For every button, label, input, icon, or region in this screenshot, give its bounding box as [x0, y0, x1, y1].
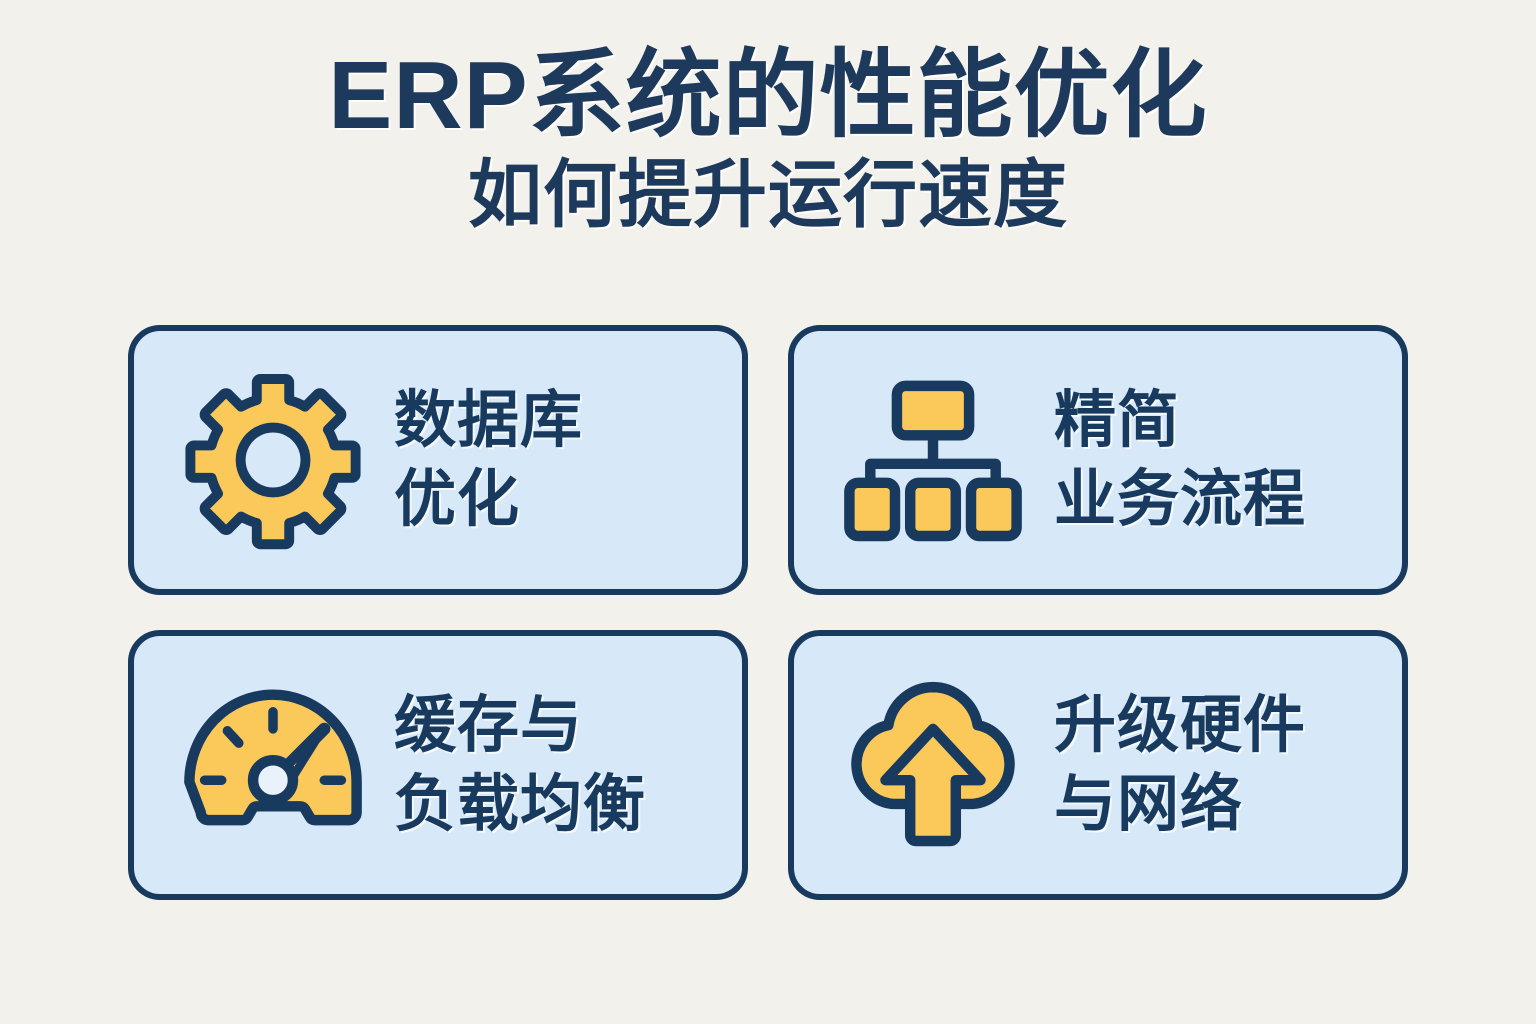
- card-label-line1: 精简: [1054, 386, 1180, 455]
- poster-header: ERP系统的性能优化 如何提升运行速度: [0, 44, 1536, 235]
- card-label-line2: 与网络: [1054, 765, 1376, 844]
- card-cache-load-balancing: 缓存与 负载均衡: [128, 630, 748, 900]
- page-title: ERP系统的性能优化: [0, 44, 1536, 148]
- card-streamline-process: 精简 业务流程: [788, 325, 1408, 595]
- infographic-poster: ERP系统的性能优化 如何提升运行速度 数据库 优化: [0, 0, 1536, 1024]
- card-label-line1: 数据库: [394, 386, 583, 455]
- card-label-line2: 负载均衡: [394, 765, 716, 844]
- card-label-line1: 缓存与: [394, 691, 583, 760]
- card-upgrade-hardware-network: 升级硬件 与网络: [788, 630, 1408, 900]
- card-label: 升级硬件 与网络: [1054, 686, 1376, 845]
- card-label: 数据库 优化: [394, 381, 716, 540]
- cloud-upload-icon: [838, 675, 1028, 855]
- card-database-optimization: 数据库 优化: [128, 325, 748, 595]
- card-label: 缓存与 负载均衡: [394, 686, 716, 845]
- card-label-line2: 业务流程: [1054, 460, 1376, 539]
- page-subtitle: 如何提升运行速度: [0, 154, 1536, 235]
- card-label-line1: 升级硬件: [1054, 691, 1306, 760]
- card-label-line2: 优化: [394, 460, 716, 539]
- org-chart-icon: [838, 370, 1028, 550]
- speedometer-icon: [178, 675, 368, 855]
- gear-icon: [178, 370, 368, 550]
- card-label: 精简 业务流程: [1054, 381, 1376, 540]
- card-grid: 数据库 优化 精简 业务流程: [128, 325, 1408, 900]
